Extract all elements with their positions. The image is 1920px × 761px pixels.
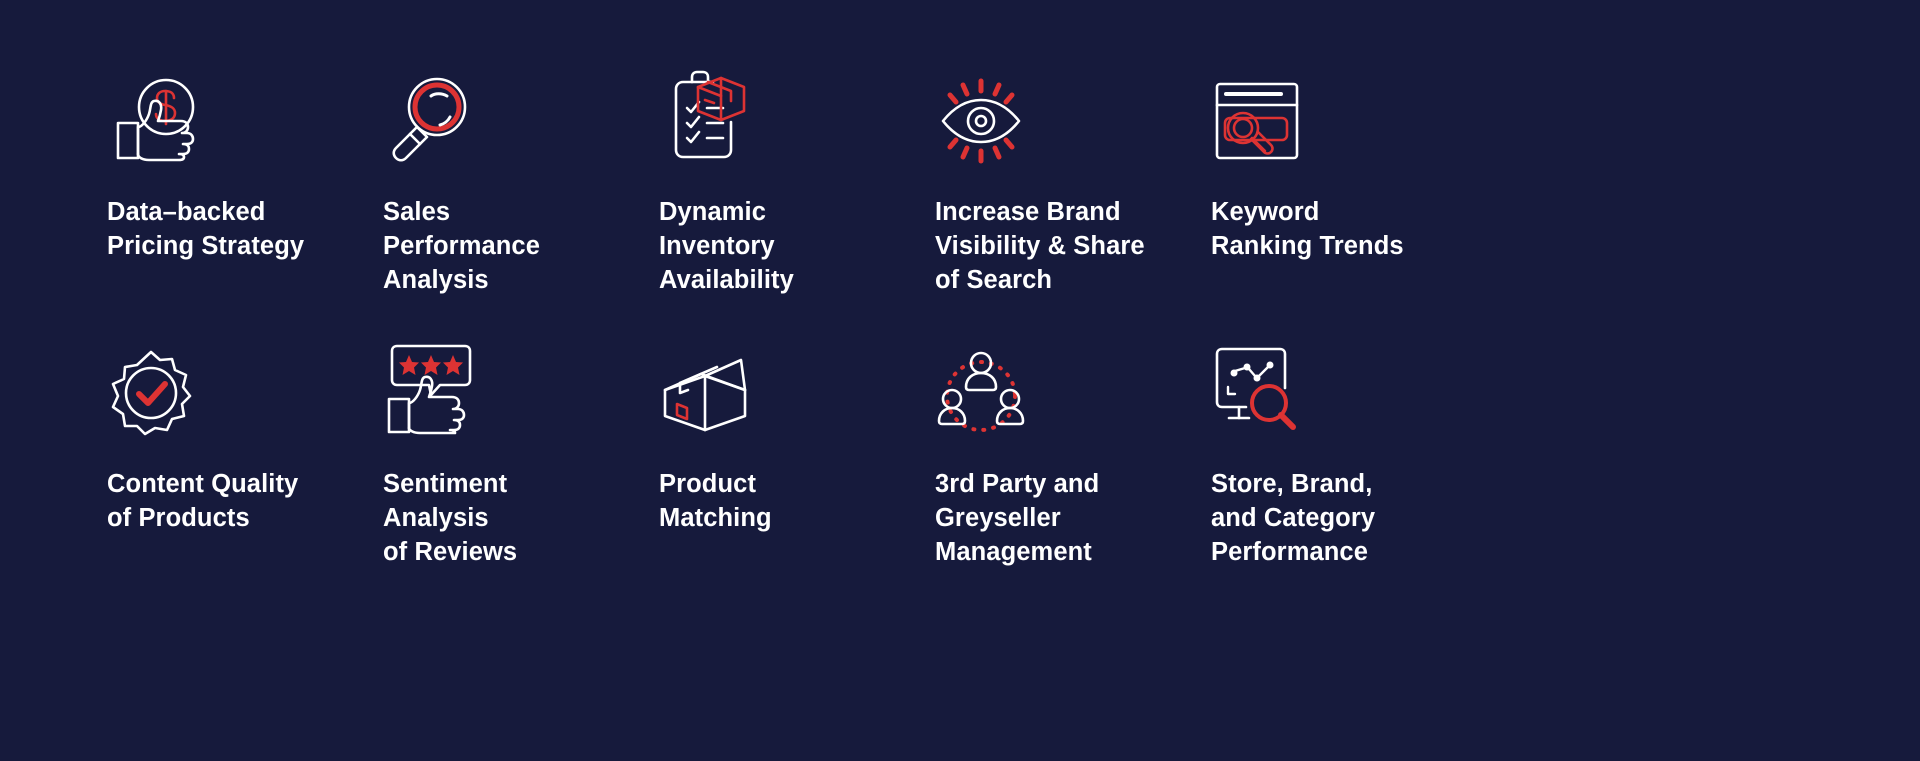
feature-card-sentiment-analysis-of-reviews[interactable]: Sentiment Analysis of Reviews	[383, 334, 659, 606]
feature-card-label: Product Matching	[659, 467, 909, 535]
feature-card-keyword-ranking-trends[interactable]: Keyword Ranking Trends	[1211, 62, 1487, 334]
shipping-box-icon	[659, 334, 769, 434]
feature-card-data-backed-pricing-strategy[interactable]: Data–backed Pricing Strategy	[107, 62, 383, 334]
feature-card-label: Sales Performance Analysis	[383, 195, 633, 297]
feature-card-label: Increase Brand Visibility & Share of Sea…	[935, 195, 1185, 297]
feature-card-label: Dynamic Inventory Availability	[659, 195, 909, 297]
thumbs-up-dollar-icon	[107, 62, 217, 162]
feature-card-label: 3rd Party and Greyseller Management	[935, 467, 1185, 569]
feature-card-label: Sentiment Analysis of Reviews	[383, 467, 633, 569]
feature-card-label: Data–backed Pricing Strategy	[107, 195, 357, 263]
eye-rays-icon	[935, 62, 1045, 162]
feature-card-third-party-greyseller-management[interactable]: 3rd Party and Greyseller Management	[935, 334, 1211, 606]
feature-card-store-brand-category-performance[interactable]: Store, Brand, and Category Performance	[1211, 334, 1487, 606]
feature-card-sales-performance-analysis[interactable]: Sales Performance Analysis	[383, 62, 659, 334]
feature-card-label: Store, Brand, and Category Performance	[1211, 467, 1461, 569]
feature-grid-board: Data–backed Pricing Strategy Sales Perfo…	[0, 0, 1920, 761]
thumbs-up-stars-review-icon	[383, 334, 493, 434]
badge-check-icon	[107, 334, 217, 434]
monitor-chart-search-icon	[1211, 334, 1321, 434]
three-users-network-icon	[935, 334, 1045, 434]
feature-card-product-matching[interactable]: Product Matching	[659, 334, 935, 606]
feature-card-dynamic-inventory-availability[interactable]: Dynamic Inventory Availability	[659, 62, 935, 334]
magnifying-glass-icon	[383, 62, 493, 162]
feature-card-label: Content Quality of Products	[107, 467, 357, 535]
feature-card-content-quality-of-products[interactable]: Content Quality of Products	[107, 334, 383, 606]
browser-search-bar-icon	[1211, 62, 1321, 162]
feature-grid: Data–backed Pricing Strategy Sales Perfo…	[107, 62, 1807, 606]
clipboard-checklist-box-icon	[659, 62, 769, 162]
feature-card-label: Keyword Ranking Trends	[1211, 195, 1461, 263]
feature-card-increase-brand-visibility[interactable]: Increase Brand Visibility & Share of Sea…	[935, 62, 1211, 334]
